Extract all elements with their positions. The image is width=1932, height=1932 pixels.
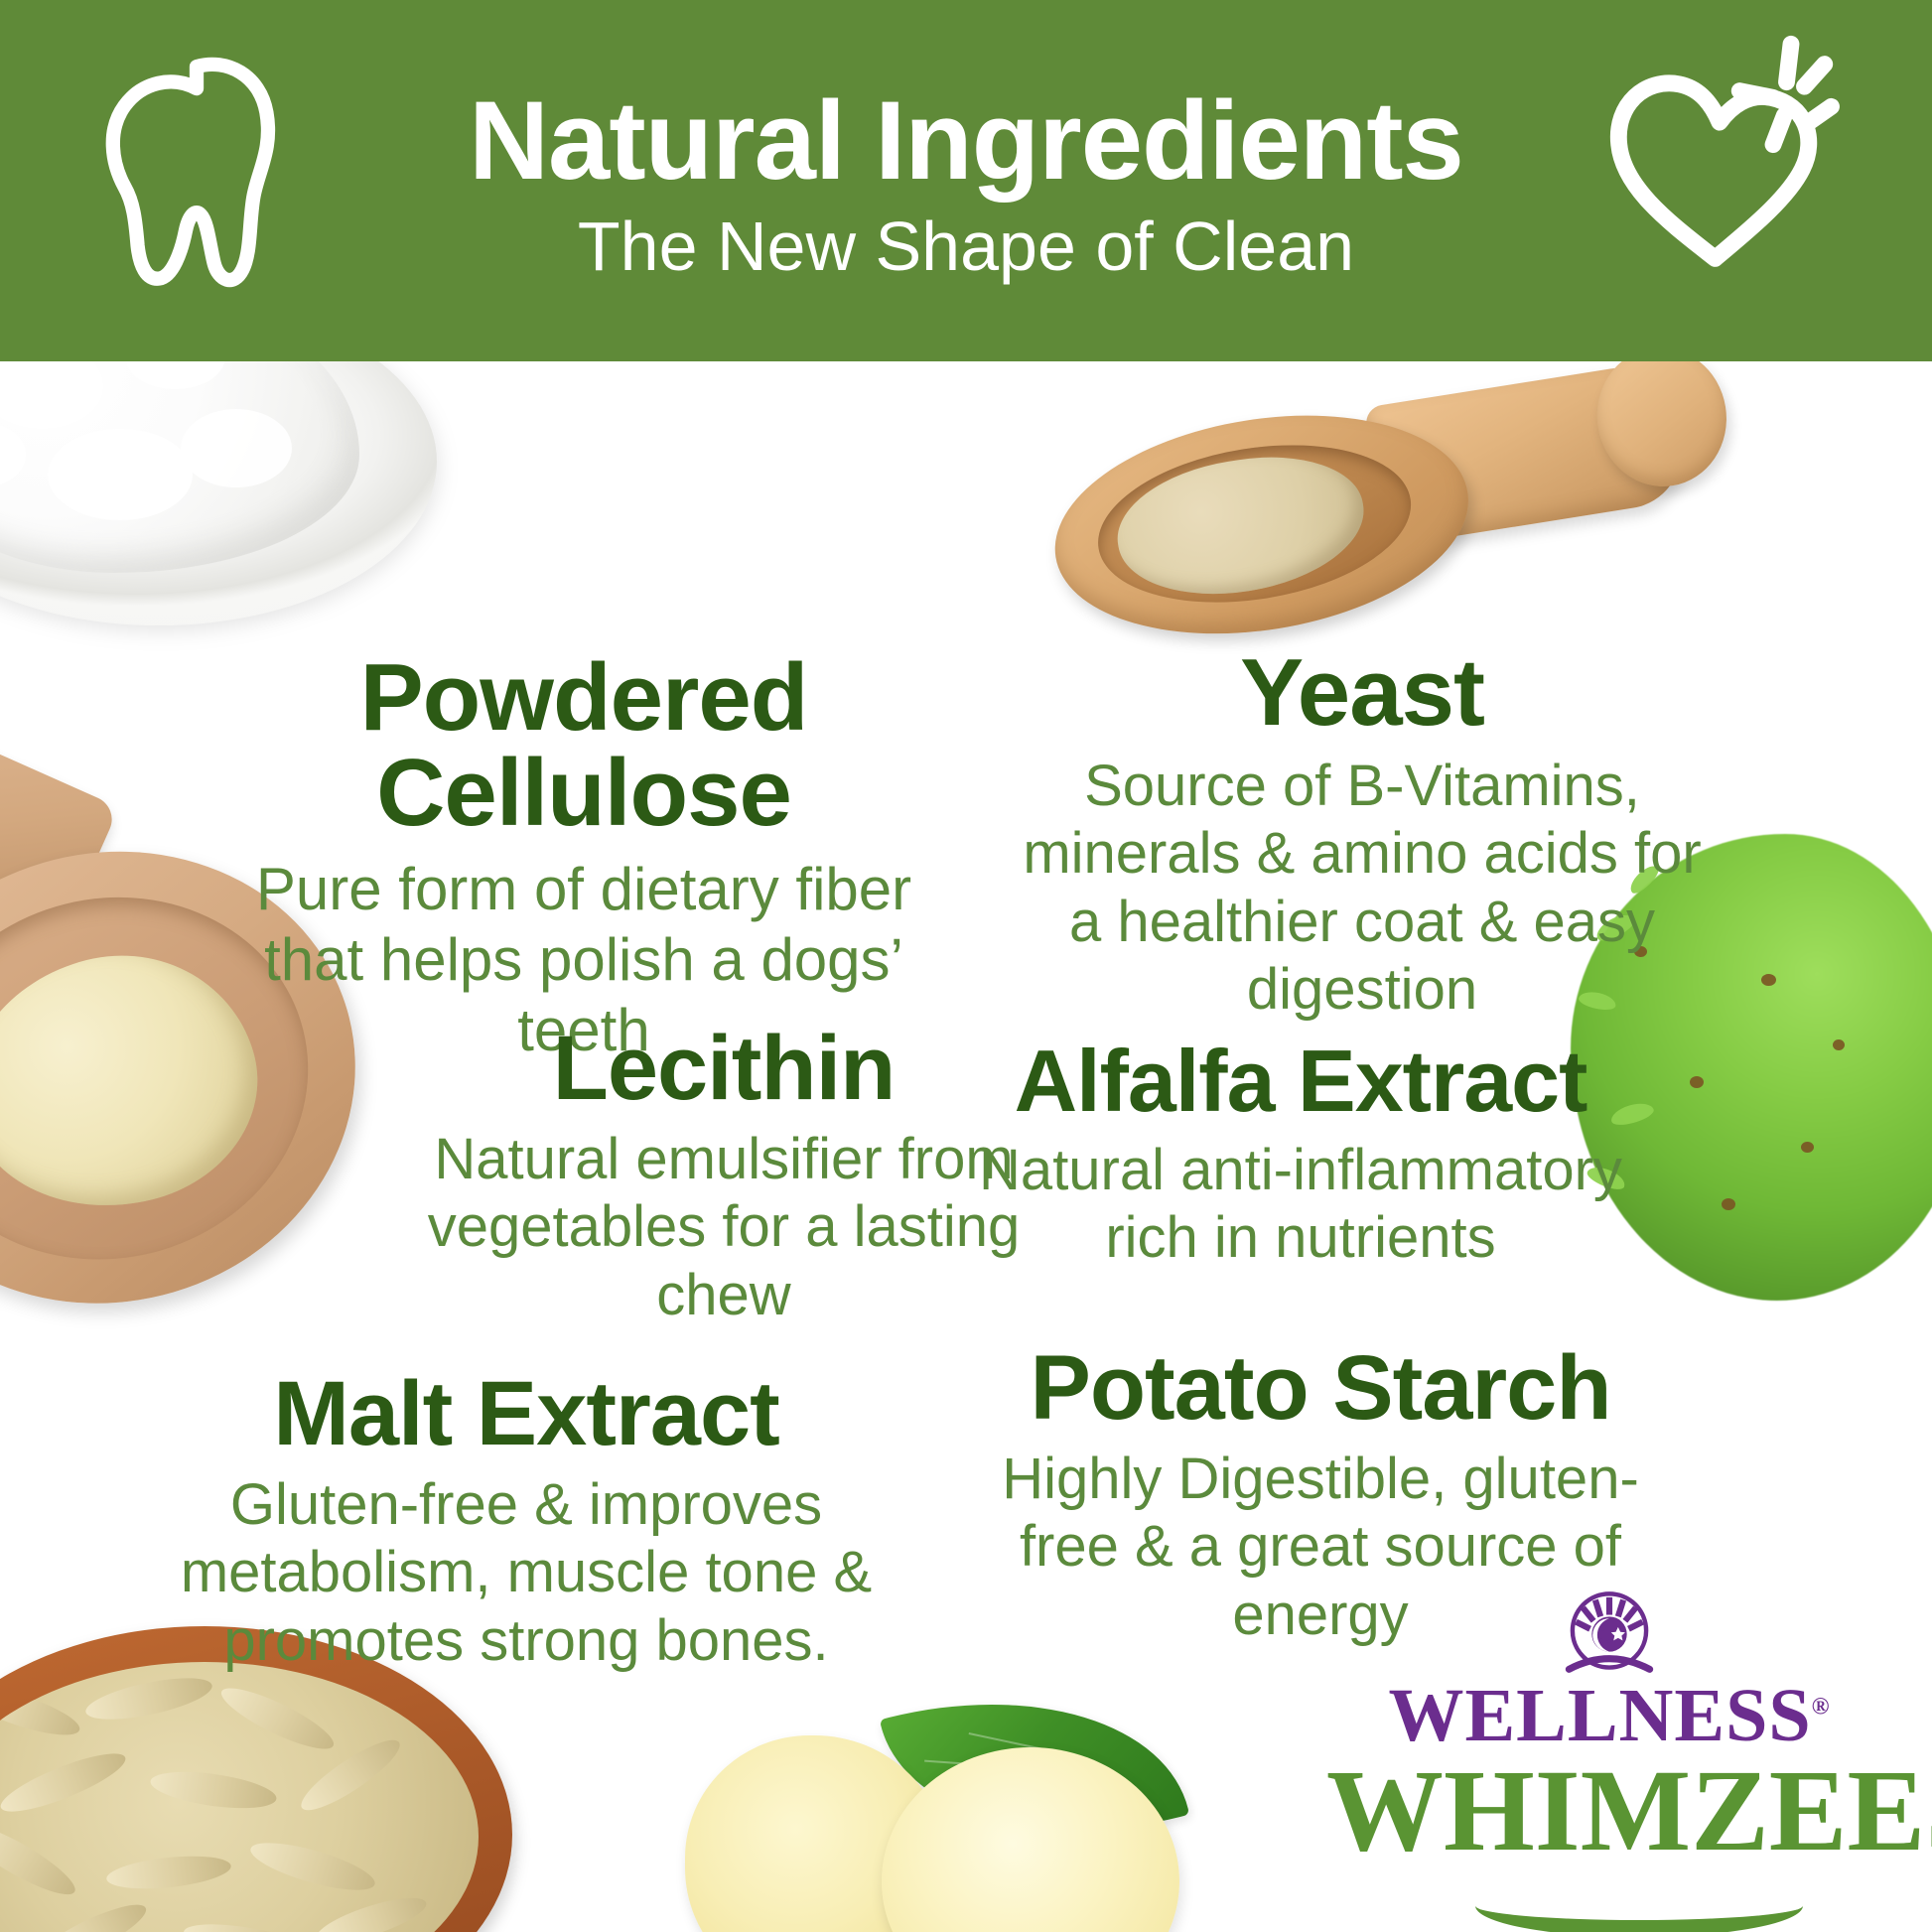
ingredient-description: Gluten-free & improves metabolism, muscl…: [179, 1471, 874, 1675]
page-title: Natural Ingredients: [469, 82, 1463, 200]
ingredient-title: Malt Extract: [179, 1368, 874, 1459]
logo-wellness-wordmark: WELLNESS®: [1326, 1682, 1892, 1751]
ingredient-title-line2: Cellulose: [376, 740, 791, 846]
logo-whimzees-wordmark: WHIMZEES®: [1326, 1755, 1892, 1866]
ingredient-title: Yeast: [1015, 645, 1710, 741]
ingredient-title: Potato Starch: [953, 1342, 1688, 1434]
ingredient-description: Natural anti-inflammatory rich in nutrie…: [953, 1137, 1648, 1273]
ingredient-description: Source of B-Vitamins, minerals & amino a…: [1015, 753, 1710, 1025]
page-subtitle: The New Shape of Clean: [578, 208, 1354, 285]
ingredient-title: PowderedCellulose: [207, 650, 961, 841]
ingredient-lecithin: Lecithin Natural emulsifier from vegetab…: [401, 1023, 1046, 1329]
ingredient-description: Natural emulsifier from vegetables for a…: [401, 1126, 1046, 1329]
potato-slices-photo: [685, 1688, 1301, 1932]
header-band: Natural Ingredients The New Shape of Cle…: [0, 0, 1932, 361]
infographic-canvas: Natural Ingredients The New Shape of Cle…: [0, 0, 1932, 1932]
logo-wellness-registered: ®: [1812, 1695, 1831, 1721]
ingredient-malt-extract: Malt Extract Gluten-free & improves meta…: [179, 1368, 874, 1675]
brand-logo: WELLNESS® WHIMZEES®: [1326, 1588, 1892, 1916]
ingredient-powdered-cellulose: PowderedCellulose Pure form of dietary f…: [207, 650, 961, 1065]
ingredient-yeast: Yeast Source of B-Vitamins, minerals & a…: [1015, 645, 1710, 1025]
sun-moon-emblem-icon: [1557, 1588, 1662, 1680]
ingredient-alfalfa-extract: Alfalfa Extract Natural anti-inflammator…: [953, 1037, 1648, 1273]
logo-swoosh: [1475, 1874, 1803, 1932]
logo-whimzees-text: WHIMZEES: [1326, 1745, 1932, 1875]
ingredient-title: Lecithin: [401, 1023, 1046, 1114]
ingredient-title-line1: Powdered: [360, 644, 808, 751]
ingredient-title: Alfalfa Extract: [953, 1037, 1648, 1125]
